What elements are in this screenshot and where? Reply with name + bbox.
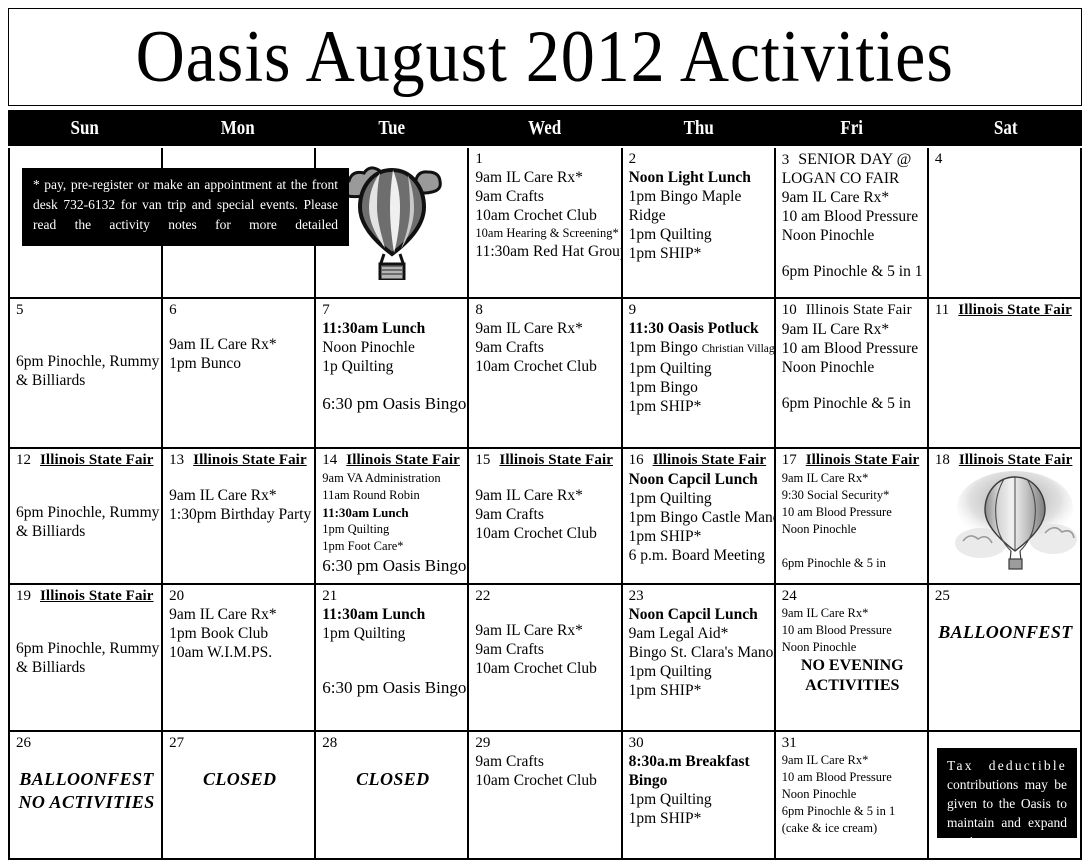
state-fair-label: Illinois State Fair — [806, 302, 912, 319]
day-header-12: 12 Illinois State Fair — [16, 452, 157, 469]
day-header-14: 14 Illinois State Fair — [322, 452, 463, 469]
event-item: Noon Pinochle — [782, 521, 923, 538]
day-number: 25 — [935, 588, 950, 604]
event-item: BALLOONFEST — [16, 768, 157, 791]
day-events-30: 8:30a.m Breakfast Bingo 1pm Quilting 1pm… — [629, 752, 770, 828]
day-header-4: 4 — [935, 151, 1076, 167]
day-events-27: CLOSED — [169, 768, 310, 791]
state-fair-label: Illinois State Fair — [193, 452, 307, 469]
event-item: 1pm Bingo Maple — [629, 187, 770, 206]
event-item: 9am Crafts — [475, 338, 616, 357]
day-number: 20 — [169, 588, 184, 604]
day-events-24: 9am IL Care Rx* 10 am Blood Pressure Noo… — [782, 605, 923, 696]
day-header-20: 20 — [169, 588, 310, 604]
day-events-15: 9am IL Care Rx* 9am Crafts 10am Crochet … — [475, 486, 616, 543]
event-item: 10 am Blood Pressure — [782, 207, 923, 226]
day-cell-6[interactable]: 6 9am IL Care Rx* 1pm Bunco — [163, 297, 316, 447]
event-item: 1pm Quilting — [322, 624, 463, 643]
state-fair-label: Illinois State Fair — [346, 452, 460, 469]
day-number: 29 — [475, 735, 490, 751]
day-header-26: 26 — [16, 735, 157, 751]
event-item: 10 am Blood Pressure — [782, 339, 923, 358]
event-item: 1pm Quilting — [629, 359, 770, 378]
day-header-23: 23 — [629, 588, 770, 604]
hot-air-balloon-sketch-icon — [941, 467, 1082, 572]
event-item: 9am IL Care Rx* — [169, 335, 310, 354]
day-cell-12[interactable]: 12 Illinois State Fair 6pm Pinochle, Rum… — [10, 447, 163, 583]
day-cell-22[interactable]: 22 9am IL Care Rx* 9am Crafts 10am Croch… — [469, 583, 622, 730]
day-cell-25[interactable]: 25 BALLOONFEST — [929, 583, 1082, 730]
event-item: 9am Crafts — [475, 187, 616, 206]
event-item: 9am IL Care Rx* — [475, 319, 616, 338]
event-item: 9am IL Care Rx* — [475, 486, 616, 505]
weekday-wed: Wed — [480, 117, 610, 140]
event-item: 11am Round Robin — [322, 487, 463, 504]
event-item: 1pm Quilting — [322, 521, 463, 538]
event-item: 6pm Pinochle, Rummy — [16, 639, 157, 658]
day-header-11: 11 Illinois State Fair — [935, 302, 1076, 319]
day-events-6: 9am IL Care Rx* 1pm Bunco — [169, 335, 310, 373]
day-cell-9[interactable]: 9 11:30 Oasis Potluck 1pm Bingo Christia… — [623, 297, 776, 447]
day-cell-14[interactable]: 14 Illinois State Fair 9am VA Administra… — [316, 447, 469, 583]
day-header-27: 27 — [169, 735, 310, 751]
event-item: 11:30am Lunch — [322, 319, 463, 338]
event-item: 6 p.m. Board Meeting — [629, 546, 770, 565]
event-item: 11:30am Lunch — [322, 504, 463, 521]
day-number: 21 — [322, 588, 337, 604]
tax-note-lead: Tax deductible — [947, 758, 1067, 773]
event-item: 6pm Pinochle & 5 in 1 — [782, 803, 923, 820]
tax-deductible-note-box: Tax deductible contributions may be give… — [937, 748, 1077, 838]
event-item: 10am Crochet Club — [475, 771, 616, 790]
event-item: 10am Crochet Club — [475, 524, 616, 543]
day-events-1: 9am IL Care Rx* 9am Crafts 10am Crochet … — [475, 168, 616, 261]
day-number: 30 — [629, 735, 644, 751]
event-item: 9:30 Social Security* — [782, 487, 923, 504]
day-number: 2 — [629, 151, 637, 167]
day-number: 28 — [322, 735, 337, 751]
day-number: 23 — [629, 588, 644, 604]
event-item: 1pm Quilting — [629, 790, 770, 809]
event-item: & Billiards — [16, 522, 157, 541]
day-cell-18[interactable]: 18 Illinois State Fair — [929, 447, 1082, 583]
day-header-10: 10 Illinois State Fair — [782, 302, 923, 319]
day-events-16: Noon Capcil Lunch 1pm Quilting 1pm Bingo… — [629, 470, 770, 565]
day-events-13: 9am IL Care Rx* 1:30pm Birthday Party — [169, 486, 310, 524]
event-item: 9am IL Care Rx* — [475, 621, 616, 640]
day-header-9: 9 — [629, 302, 770, 318]
event-item: 6:30 pm Oasis Bingo — [322, 555, 463, 576]
day-events-7: 11:30am Lunch Noon Pinochle 1p Quilting … — [322, 319, 463, 414]
day-header-15: 15 Illinois State Fair — [475, 452, 616, 469]
day-number: 27 — [169, 735, 184, 751]
day-number: 16 — [629, 452, 644, 468]
event-item: 1pm Bunco — [169, 354, 310, 373]
calendar-title-banner: Oasis August 2012 Activities — [8, 8, 1082, 106]
day-header-5: 5 — [16, 302, 157, 318]
day-cell-27[interactable]: 27 CLOSED — [163, 730, 316, 860]
day-events-9: 11:30 Oasis Potluck 1pm Bingo Christian … — [629, 319, 770, 416]
day-header-6: 6 — [169, 302, 310, 318]
day-number: 8 — [475, 302, 483, 318]
day-number: 15 — [475, 452, 490, 468]
weekday-fri: Fri — [787, 117, 917, 140]
event-item: 9am Crafts — [475, 640, 616, 659]
day-header-8: 8 — [475, 302, 616, 318]
event-item: 9am IL Care Rx* — [475, 168, 616, 187]
event-item: 1pm Bingo Castle Manor — [629, 508, 770, 527]
event-item: & Billiards — [16, 371, 157, 390]
day-cell-31[interactable]: 31 9am IL Care Rx* 10 am Blood Pressure … — [776, 730, 929, 860]
day-cell-26[interactable]: 26 BALLOONFEST NO ACTIVITIES — [10, 730, 163, 860]
event-item: 9am Crafts — [475, 752, 616, 771]
day-cell-10[interactable]: 10 Illinois State Fair 9am IL Care Rx* 1… — [776, 297, 929, 447]
day-header-29: 29 — [475, 735, 616, 751]
day-number: 31 — [782, 735, 797, 751]
event-item: Noon Pinochle — [322, 338, 463, 357]
event-item: 1pm Book Club — [169, 624, 310, 643]
day-cell-19[interactable]: 19 Illinois State Fair 6pm Pinochle, Rum… — [10, 583, 163, 730]
day-events-26: BALLOONFEST NO ACTIVITIES — [16, 768, 157, 814]
event-item: Noon Capcil Lunch — [629, 470, 770, 489]
event-item: 10am Crochet Club — [475, 659, 616, 678]
weekday-thu: Thu — [633, 117, 763, 140]
event-item: 1pm Quilting — [629, 225, 770, 244]
day-number: 7 — [322, 302, 330, 318]
day-number: 19 — [16, 588, 31, 604]
state-fair-label: Illinois State Fair — [653, 452, 767, 469]
day-number: 11 — [935, 302, 949, 318]
event-item: 10am Hearing & Screening* — [475, 225, 616, 242]
event-item: 6pm Pinochle & 5 in — [782, 555, 923, 572]
event-item: ACTIVITIES — [782, 676, 923, 696]
event-item: 11:30 Oasis Potluck — [629, 319, 770, 338]
event-item: 6:30 pm Oasis Bingo — [322, 393, 463, 414]
day-number: 22 — [475, 588, 490, 604]
calendar-page: Oasis August 2012 Activities Sun Mon Tue… — [0, 0, 1090, 867]
event-item: LOGAN CO FAIR — [782, 169, 923, 188]
day-number: 10 — [782, 302, 797, 318]
event-item: 1pm SHIP* — [629, 244, 770, 263]
day-events-3: LOGAN CO FAIR 9am IL Care Rx* 10 am Bloo… — [782, 169, 923, 281]
event-item: 1pm SHIP* — [629, 681, 770, 700]
day-events-19: 6pm Pinochle, Rummy & Billiards — [16, 639, 157, 677]
event-item: 9am IL Care Rx* — [169, 486, 310, 505]
day-header-3: 3 SENIOR DAY @ — [782, 151, 923, 168]
event-item: 8:30a.m Breakfast — [629, 752, 770, 771]
event-item: 1pm SHIP* — [629, 809, 770, 828]
day-number: 1 — [475, 151, 483, 167]
event-item: 9am Crafts — [475, 505, 616, 524]
event-item: Noon Pinochle — [782, 226, 923, 245]
day-cell-21[interactable]: 21 11:30am Lunch 1pm Quilting 6:30 pm Oa… — [316, 583, 469, 730]
day-events-25: BALLOONFEST — [935, 621, 1076, 644]
day-number: 5 — [16, 302, 24, 318]
day-number: 9 — [629, 302, 637, 318]
day-cell-11[interactable]: 11 Illinois State Fair — [929, 297, 1082, 447]
day-events-23: Noon Capcil Lunch 9am Legal Aid* Bingo S… — [629, 605, 770, 700]
event-item: Noon Light Lunch — [629, 168, 770, 187]
event-item: 1pm Quilting — [629, 662, 770, 681]
event-item: Bingo St. Clara's Manor — [629, 643, 770, 662]
event-item: BALLOONFEST — [935, 621, 1076, 644]
day-header-2: 2 — [629, 151, 770, 167]
state-fair-label: Illinois State Fair — [958, 302, 1072, 319]
day-events-2: Noon Light Lunch 1pm Bingo Maple Ridge 1… — [629, 168, 770, 263]
event-item: Noon Pinochle — [782, 786, 923, 803]
day-header-16: 16 Illinois State Fair — [629, 452, 770, 469]
day-events-14: 9am VA Administration 11am Round Robin 1… — [322, 470, 463, 576]
event-item: (cake & ice cream) — [782, 820, 923, 837]
event-item: 10am W.I.M.PS. — [169, 643, 310, 662]
event-item: 6pm Pinochle, Rummy — [16, 503, 157, 522]
day-events-28: CLOSED — [322, 768, 463, 791]
day-number: 24 — [782, 588, 797, 604]
event-item: Ridge — [629, 206, 770, 225]
day-header-30: 30 — [629, 735, 770, 751]
day-number: 4 — [935, 151, 943, 167]
month-grid: 1 9am IL Care Rx* 9am Crafts 10am Croche… — [8, 148, 1082, 860]
day-number: 12 — [16, 452, 31, 468]
day-events-21: 11:30am Lunch 1pm Quilting 6:30 pm Oasis… — [322, 605, 463, 698]
event-item: 6:30 pm Oasis Bingo — [322, 677, 463, 698]
event-item: 10am Crochet Club — [475, 357, 616, 376]
weekday-tue: Tue — [326, 117, 456, 140]
event-item: Noon Pinochle — [782, 639, 923, 656]
day-number: 13 — [169, 452, 184, 468]
event-item: 10 am Blood Pressure — [782, 622, 923, 639]
page-title: Oasis August 2012 Activities — [136, 17, 954, 97]
day-cell-5[interactable]: 5 6pm Pinochle, Rummy & Billiards — [10, 297, 163, 447]
event-venue: Christian Village — [702, 343, 776, 355]
event-item: NO EVENING — [782, 656, 923, 676]
event-item: 6pm Pinochle, Rummy — [16, 352, 157, 371]
day-cell-7[interactable]: 7 11:30am Lunch Noon Pinochle 1p Quiltin… — [316, 297, 469, 447]
day-header-7: 7 — [322, 302, 463, 318]
day-number: 18 — [935, 452, 950, 468]
event-item: 1pm Bingo Christian Village — [629, 338, 770, 359]
day-cell-1[interactable]: 1 9am IL Care Rx* 9am Crafts 10am Croche… — [469, 148, 622, 297]
event-item: Bingo — [629, 771, 770, 790]
day-cell-23[interactable]: 23 Noon Capcil Lunch 9am Legal Aid* Bing… — [623, 583, 776, 730]
event-item: 1p Quilting — [322, 357, 463, 376]
state-fair-label: Illinois State Fair — [40, 588, 154, 605]
day-number: 26 — [16, 735, 31, 751]
event-item: 11:30am Lunch — [322, 605, 463, 624]
event-item: CLOSED — [169, 768, 310, 791]
event-item: 1pm Bingo — [629, 378, 770, 397]
day-header-17: 17 Illinois State Fair — [782, 452, 923, 469]
event-item: 1:30pm Birthday Party — [169, 505, 310, 524]
day-events-31: 9am IL Care Rx* 10 am Blood Pressure Noo… — [782, 752, 923, 837]
event-item: 6pm Pinochle & 5 in — [782, 394, 923, 413]
weekday-header-row: Sun Mon Tue Wed Thu Fri Sat — [8, 110, 1082, 146]
event-item: 9am IL Care Rx* — [782, 188, 923, 207]
weekday-mon: Mon — [173, 117, 303, 140]
day-header-19: 19 Illinois State Fair — [16, 588, 157, 605]
event-item: 9am IL Care Rx* — [169, 605, 310, 624]
event-item: CLOSED — [322, 768, 463, 791]
day-header-21: 21 — [322, 588, 463, 604]
state-fair-label: Illinois State Fair — [806, 452, 920, 469]
day-cell-28[interactable]: 28 CLOSED — [316, 730, 469, 860]
event-item: & Billiards — [16, 658, 157, 677]
event-item: Noon Pinochle — [782, 358, 923, 377]
event-item: Noon Capcil Lunch — [629, 605, 770, 624]
day-header-label: SENIOR DAY @ — [798, 151, 911, 168]
event-item: 1pm Foot Care* — [322, 538, 463, 555]
day-number: 14 — [322, 452, 337, 468]
day-number: 3 — [782, 152, 790, 168]
event-item: 10am Crochet Club — [475, 206, 616, 225]
day-cell-3[interactable]: 3 SENIOR DAY @ LOGAN CO FAIR 9am IL Care… — [776, 148, 929, 297]
day-events-12: 6pm Pinochle, Rummy & Billiards — [16, 503, 157, 541]
day-events-5: 6pm Pinochle, Rummy & Billiards — [16, 352, 157, 390]
day-cell-20[interactable]: 20 9am IL Care Rx* 1pm Book Club 10am W.… — [163, 583, 316, 730]
day-cell-15[interactable]: 15 Illinois State Fair 9am IL Care Rx* 9… — [469, 447, 622, 583]
day-header-24: 24 — [782, 588, 923, 604]
day-number: 17 — [782, 452, 797, 468]
day-header-28: 28 — [322, 735, 463, 751]
day-events-8: 9am IL Care Rx* 9am Crafts 10am Crochet … — [475, 319, 616, 376]
day-cell-16[interactable]: 16 Illinois State Fair Noon Capcil Lunch… — [623, 447, 776, 583]
day-cell-13[interactable]: 13 Illinois State Fair 9am IL Care Rx* 1… — [163, 447, 316, 583]
day-header-13: 13 Illinois State Fair — [169, 452, 310, 469]
event-item: 9am IL Care Rx* — [782, 320, 923, 339]
event-item: 9am VA Administration — [322, 470, 463, 487]
day-header-22: 22 — [475, 588, 616, 604]
weekday-sun: Sun — [20, 117, 150, 140]
event-item: 1pm SHIP* — [629, 527, 770, 546]
event-item: 10 am Blood Pressure — [782, 504, 923, 521]
day-cell-2[interactable]: 2 Noon Light Lunch 1pm Bingo Maple Ridge… — [623, 148, 776, 297]
event-item: 9am IL Care Rx* — [782, 605, 923, 622]
state-fair-label: Illinois State Fair — [40, 452, 154, 469]
hot-air-balloon-cartoon-icon — [336, 160, 448, 280]
day-events-29: 9am Crafts 10am Crochet Club — [475, 752, 616, 790]
event-item: 9am IL Care Rx* — [782, 470, 923, 487]
day-cell-30[interactable]: 30 8:30a.m Breakfast Bingo 1pm Quilting … — [623, 730, 776, 860]
event-item: 1pm Quilting — [629, 489, 770, 508]
asterisk-note-box: * pay, pre-register or make an appointme… — [22, 168, 349, 246]
day-cell-17[interactable]: 17 Illinois State Fair 9am IL Care Rx* 9… — [776, 447, 929, 583]
event-item: 9am Legal Aid* — [629, 624, 770, 643]
day-cell-24[interactable]: 24 9am IL Care Rx* 10 am Blood Pressure … — [776, 583, 929, 730]
day-header-1: 1 — [475, 151, 616, 167]
day-cell-8[interactable]: 8 9am IL Care Rx* 9am Crafts 10am Croche… — [469, 297, 622, 447]
event-item: 6pm Pinochle & 5 in 1 — [782, 262, 923, 281]
event-item: 11:30am Red Hat Group — [475, 242, 616, 261]
day-cell-4[interactable]: 4 — [929, 148, 1082, 297]
day-events-17: 9am IL Care Rx* 9:30 Social Security* 10… — [782, 470, 923, 572]
day-cell-29[interactable]: 29 9am Crafts 10am Crochet Club — [469, 730, 622, 860]
day-events-20: 9am IL Care Rx* 1pm Book Club 10am W.I.M… — [169, 605, 310, 662]
event-text: 1pm Bingo — [629, 339, 698, 356]
event-item: NO ACTIVITIES — [16, 791, 157, 814]
weekday-sat: Sat — [940, 117, 1070, 140]
day-header-25: 25 — [935, 588, 1076, 604]
event-item: 10 am Blood Pressure — [782, 769, 923, 786]
day-header-31: 31 — [782, 735, 923, 751]
event-item: 1pm SHIP* — [629, 397, 770, 416]
state-fair-label: Illinois State Fair — [499, 452, 613, 469]
event-item: 9am IL Care Rx* — [782, 752, 923, 769]
day-number: 6 — [169, 302, 177, 318]
day-events-22: 9am IL Care Rx* 9am Crafts 10am Crochet … — [475, 621, 616, 678]
day-events-10: 9am IL Care Rx* 10 am Blood Pressure Noo… — [782, 320, 923, 413]
